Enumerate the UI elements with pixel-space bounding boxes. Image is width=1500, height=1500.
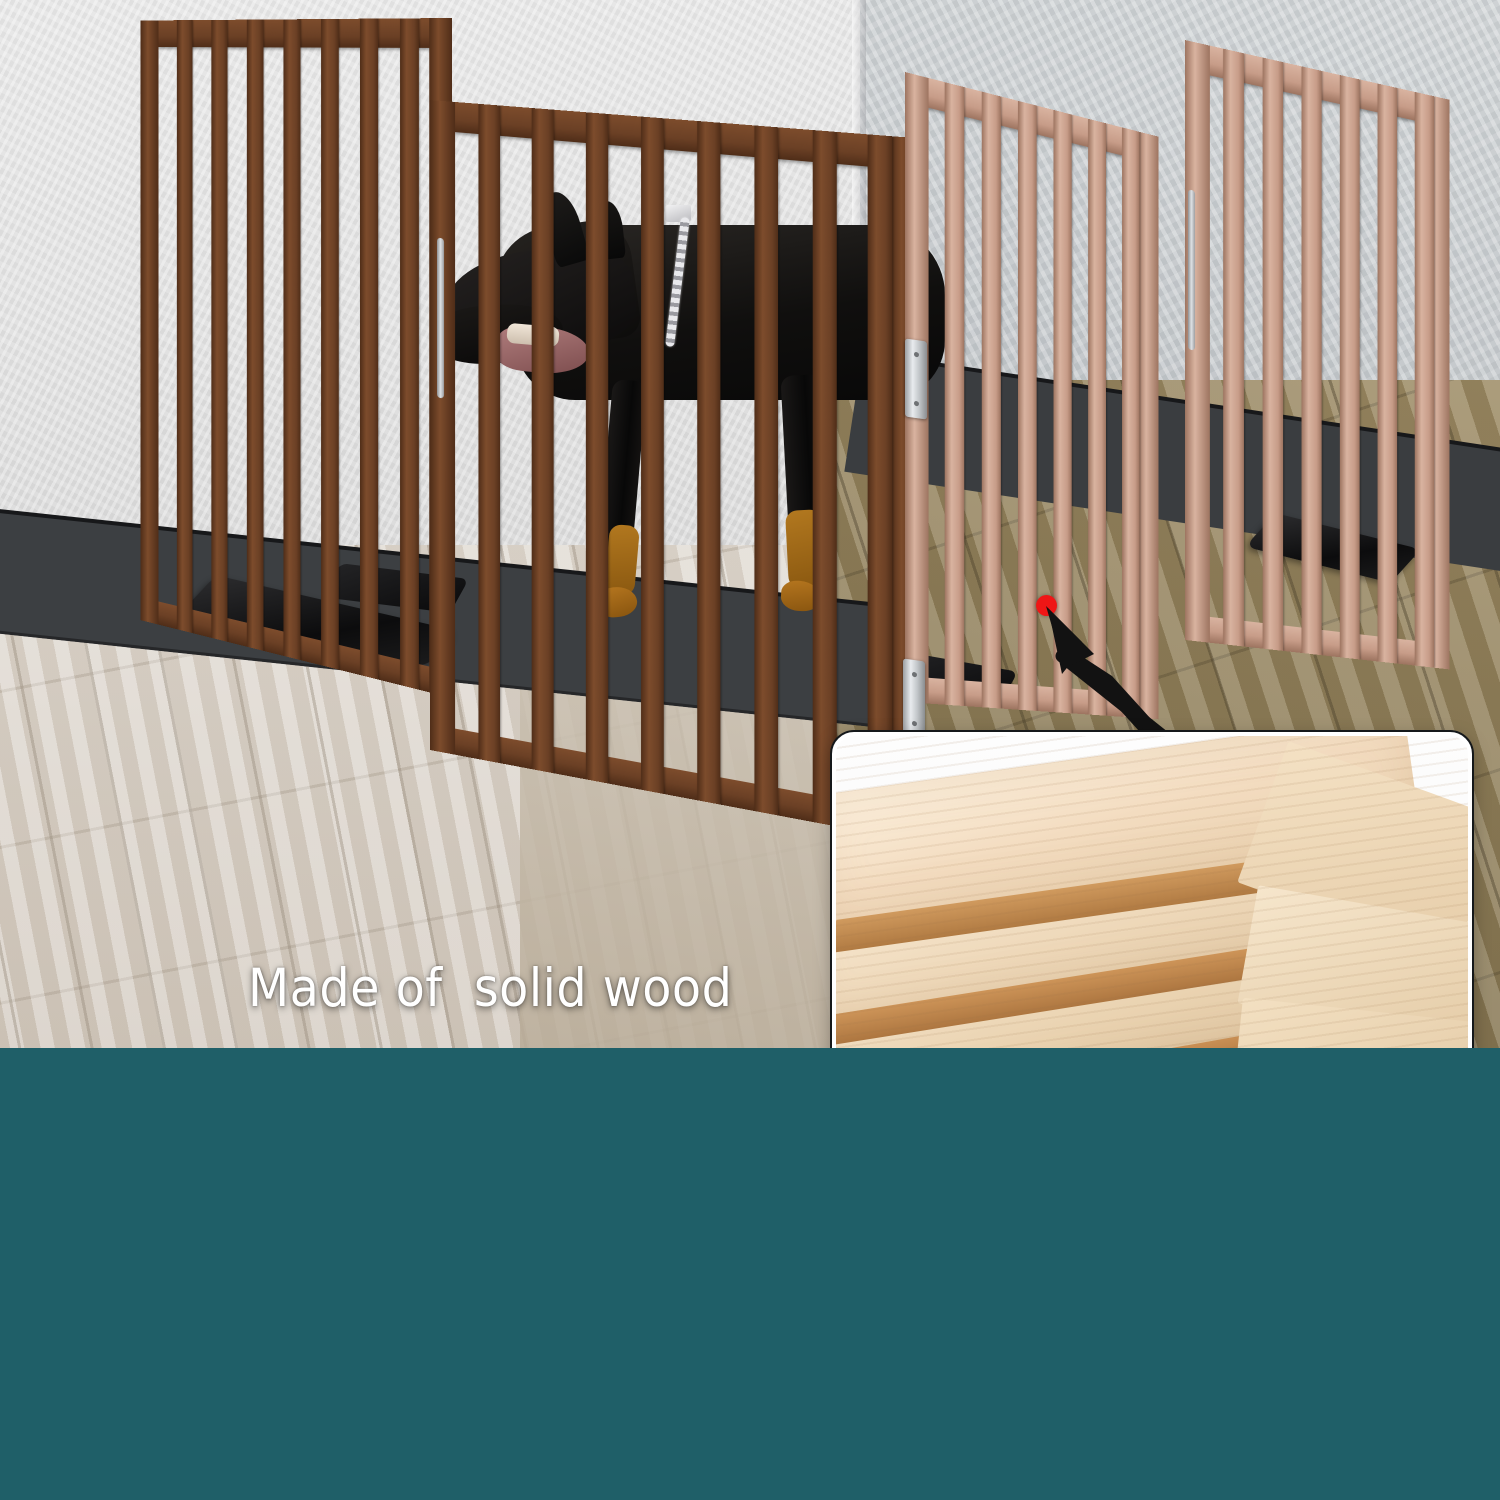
gate-panel-1 [141,18,452,698]
made-of-solid-wood-caption: Made of solid wood [248,958,732,1019]
gate-slat [283,19,300,660]
gate-slat [1302,66,1322,655]
gate-slat [478,104,500,763]
gate-slat [177,20,193,633]
gate-slat [586,112,608,783]
panel-hinge [437,238,444,399]
gate-panel-4 [1185,40,1450,669]
gate-slat [982,92,1001,709]
features-banner: 1. Limit your pet from running around 2.… [0,1048,1500,1500]
gate-slat [1415,92,1434,668]
gate-slat [945,82,965,706]
gate-slat [211,20,227,642]
gate-slat [400,18,419,689]
panel-stile [430,100,455,755]
gate-slat [1223,49,1244,647]
gate-slat [1340,75,1360,659]
panel-hinge [903,658,925,739]
gate-slat [641,117,664,794]
gate-slat [754,125,778,815]
gate-slat [697,121,720,805]
panel-hinge [905,338,927,419]
gate-slat [813,130,837,826]
gate-slat [321,19,339,670]
gate-slat [532,108,554,773]
gate-slat [1263,58,1283,651]
gate-slat [360,19,378,680]
gate-panel-2 [430,100,919,842]
panel-stile [141,20,159,624]
gate-slat [1378,83,1398,663]
product-marketing-image: Made of solid wood [0,0,1500,1500]
panel-hinge [1188,189,1195,350]
gate-slat [247,20,264,651]
